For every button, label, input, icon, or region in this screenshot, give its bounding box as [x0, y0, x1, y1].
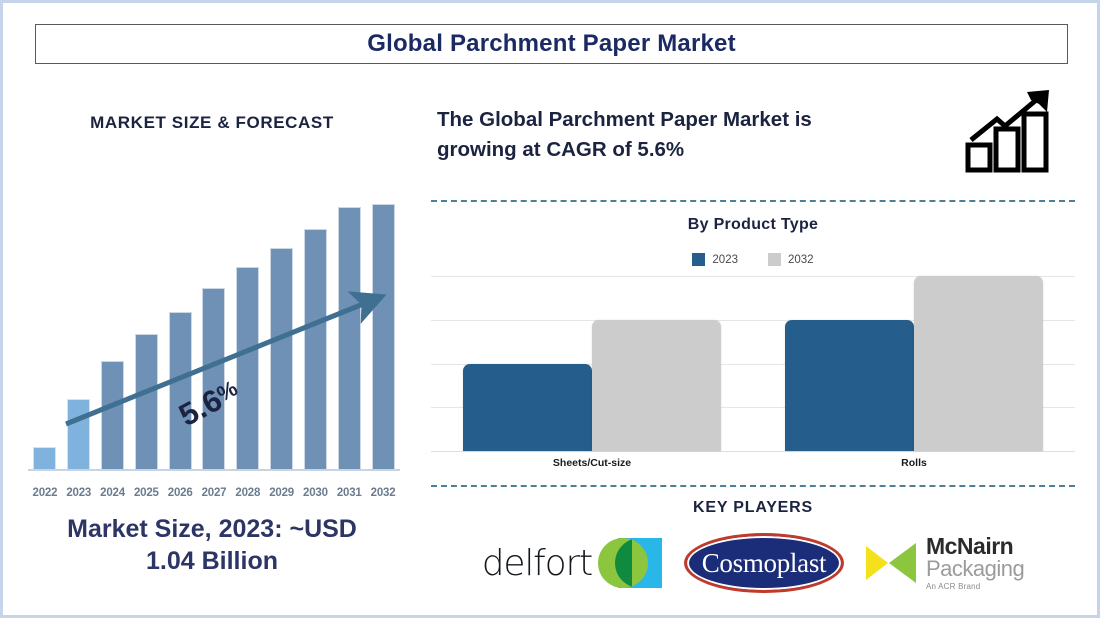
mcnairn-line-3: An ACR Brand: [926, 583, 1024, 591]
forecast-year-label: 2031: [332, 487, 366, 499]
market-size-callout: Market Size, 2023: ~USD 1.04 Billion: [12, 513, 412, 577]
forecast-bar-cell: [366, 199, 400, 469]
logo-cosmoplast: Cosmoplast: [684, 533, 844, 593]
page-title: Global Parchment Paper Market: [367, 30, 736, 58]
market-overview-panel: The Global Parchment Paper Market is gro…: [423, 83, 1083, 616]
legend-label: 2032: [788, 254, 814, 266]
delfort-mark-icon: [598, 538, 662, 588]
product-type-category-axis: Sheets/Cut-sizeRolls: [431, 457, 1075, 469]
infographic-page: Global Parchment Paper Market MARKET SIZ…: [0, 0, 1100, 618]
cosmoplast-wordmark: Cosmoplast: [702, 548, 827, 579]
forecast-bar-cell: [231, 199, 265, 469]
forecast-bar: [135, 334, 158, 469]
market-size-line-2: 1.04 Billion: [12, 545, 412, 577]
cagr-headline-line-2: growing at CAGR of 5.6%: [437, 135, 937, 165]
forecast-bar: [372, 204, 395, 469]
product-type-bar: [592, 320, 721, 451]
logo-mcnairn-packaging: McNairn Packaging An ACR Brand: [866, 535, 1024, 591]
forecast-bar: [236, 267, 259, 470]
legend-item[interactable]: 2032: [768, 253, 814, 266]
market-size-forecast-panel: MARKET SIZE & FORECAST 5.6% 202220232024…: [6, 83, 418, 616]
page-title-bar: Global Parchment Paper Market: [35, 24, 1068, 64]
forecast-bar: [304, 229, 327, 469]
mcnairn-line-2: Packaging: [926, 558, 1024, 580]
divider-bottom: [431, 485, 1075, 487]
forecast-bar-group: [28, 199, 400, 469]
forecast-year-label: 2032: [366, 487, 400, 499]
forecast-bar-cell: [62, 199, 96, 469]
forecast-bar-cell: [332, 199, 366, 469]
product-type-bar: [463, 364, 592, 452]
product-type-legend: 20232032: [431, 253, 1075, 266]
legend-label: 2023: [712, 254, 738, 266]
forecast-bar-cell: [129, 199, 163, 469]
forecast-bar: [169, 312, 192, 469]
product-type-bar: [785, 320, 914, 451]
forecast-year-label: 2025: [129, 487, 163, 499]
forecast-year-label: 2024: [96, 487, 130, 499]
forecast-bar-cell: [299, 199, 333, 469]
forecast-axis-line: [28, 469, 400, 471]
product-type-category-label: Rolls: [753, 457, 1075, 469]
forecast-year-label: 2026: [163, 487, 197, 499]
product-type-category-label: Sheets/Cut-size: [431, 457, 753, 469]
mcnairn-line-1: McNairn: [926, 535, 1024, 558]
mcnairn-wordmark: McNairn Packaging An ACR Brand: [926, 535, 1024, 591]
divider-top: [431, 200, 1075, 202]
forecast-bar-cell: [28, 199, 62, 469]
mcnairn-bowtie-icon: [866, 540, 918, 586]
forecast-year-label: 2029: [265, 487, 299, 499]
forecast-year-label: 2023: [62, 487, 96, 499]
bar-chart-growth-icon: [965, 88, 1063, 173]
forecast-bar: [338, 207, 361, 469]
legend-swatch: [692, 253, 705, 266]
forecast-bar: [101, 361, 124, 469]
forecast-bar-cell: [96, 199, 130, 469]
key-players-logos: delfort Cosmoplast McNairn: [443, 523, 1063, 603]
product-type-bar: [914, 276, 1043, 451]
forecast-bar: [33, 447, 56, 469]
legend-item[interactable]: 2023: [692, 253, 738, 266]
forecast-bar-cell: [265, 199, 299, 469]
forecast-bar-cell: [197, 199, 231, 469]
forecast-year-label: 2022: [28, 487, 62, 499]
market-size-forecast-heading: MARKET SIZE & FORECAST: [6, 113, 418, 133]
delfort-wordmark: delfort: [482, 543, 592, 584]
cagr-headline: The Global Parchment Paper Market is gro…: [437, 105, 937, 165]
legend-swatch: [768, 253, 781, 266]
forecast-year-axis: 2022202320242025202620272028202920302031…: [28, 487, 400, 499]
forecast-year-label: 2027: [197, 487, 231, 499]
forecast-bar: [270, 248, 293, 469]
chart-baseline: [431, 451, 1075, 452]
forecast-bar: [67, 399, 90, 469]
market-size-forecast-chart: 5.6%: [18, 183, 406, 483]
by-product-type-label: By Product Type: [431, 216, 1075, 234]
forecast-year-label: 2028: [231, 487, 265, 499]
cagr-headline-line-1: The Global Parchment Paper Market is: [437, 105, 937, 135]
forecast-year-label: 2030: [299, 487, 333, 499]
product-type-bar-group: [753, 276, 1075, 451]
cosmoplast-badge: Cosmoplast: [684, 533, 844, 593]
logo-delfort: delfort: [482, 538, 662, 588]
product-type-bar-group: [431, 276, 753, 451]
market-size-line-1: Market Size, 2023: ~USD: [12, 513, 412, 545]
by-product-type-chart: [431, 276, 1075, 452]
key-players-label: KEY PLAYERS: [431, 499, 1075, 517]
